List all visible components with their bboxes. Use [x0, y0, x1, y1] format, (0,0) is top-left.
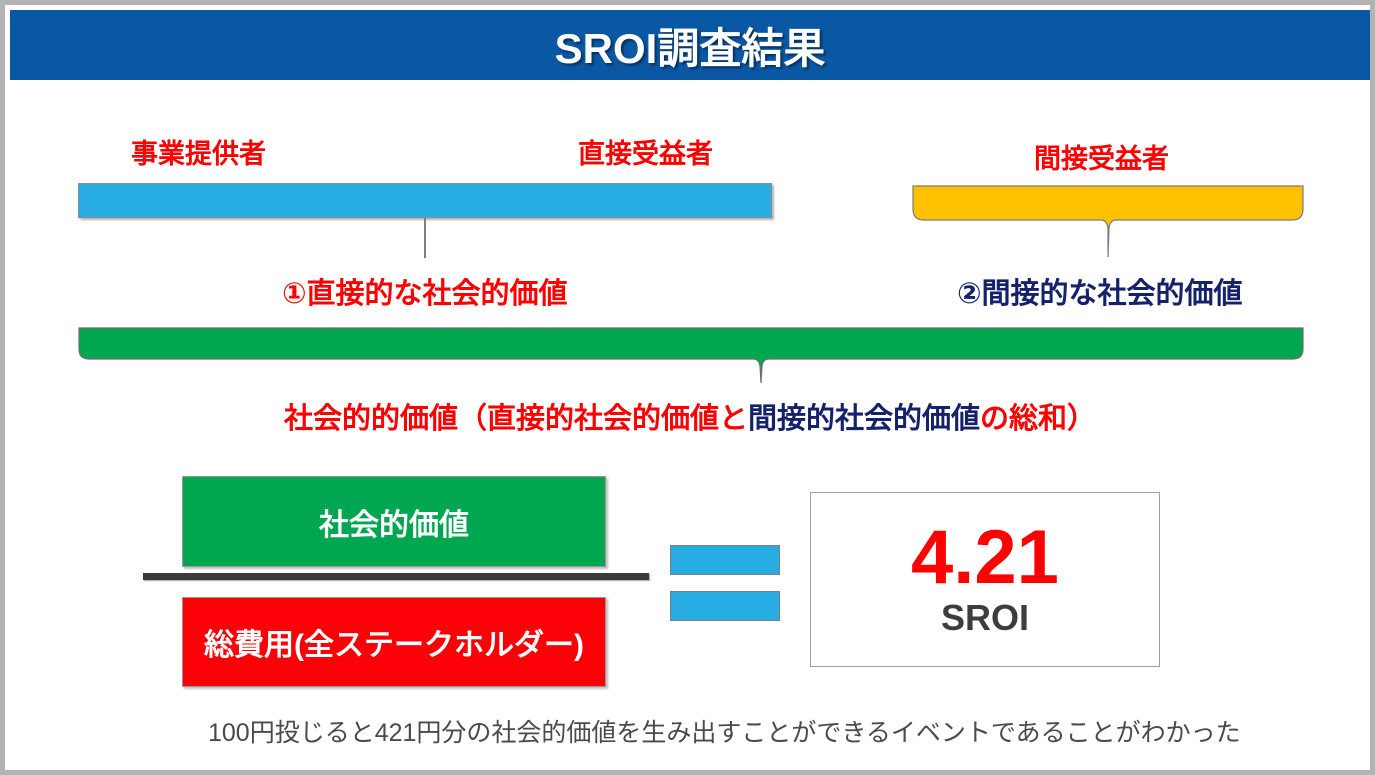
label-provider: 事業提供者 — [131, 132, 266, 171]
denominator-label: 総費用(全ステークホルダー) — [204, 620, 584, 664]
slide-canvas: SROI調査結果 事業提供者 直接受益者 間接受益者 ①直接的な社会的価値 ②間… — [0, 0, 1375, 775]
label-direct-social-value: ①直接的な社会的価値 — [282, 270, 568, 312]
label-indirect-beneficiary: 間接受益者 — [1034, 137, 1169, 176]
label-indirect-social-value: ②間接的な社会的価値 — [957, 270, 1243, 312]
footer-note: 100円投じると421円分の社会的価値を生み出すことができるイベントであることが… — [208, 713, 1241, 749]
brace-indirect-beneficiary — [911, 183, 1305, 259]
total-label-part-3: の総和） — [980, 403, 1096, 435]
brace-total-social-value — [77, 325, 1305, 385]
box-social-value-numerator: 社会的価値 — [182, 476, 606, 567]
total-label-part-1: 社会的的価値（直接的社会的価値と — [284, 403, 748, 435]
sroi-value: 4.21 — [911, 521, 1059, 595]
equals-sign-bottom-bar — [670, 591, 780, 621]
label-total-social-value: 社会的的価値（直接的社会的価値と間接的社会的価値の総和） — [284, 395, 1096, 437]
page-title: SROI調査結果 — [555, 15, 826, 76]
sroi-caption: SROI — [941, 598, 1029, 638]
box-total-cost-denominator: 総費用(全ステークホルダー) — [182, 597, 606, 687]
bar-direct-stakeholders — [78, 183, 772, 218]
label-direct-beneficiary: 直接受益者 — [578, 132, 713, 171]
slide-title-bar: SROI調査結果 — [10, 10, 1370, 80]
fraction-bar — [143, 573, 649, 580]
direct-value-pointer-line — [424, 218, 426, 258]
result-box: 4.21 SROI — [810, 492, 1160, 667]
numerator-label: 社会的価値 — [319, 500, 469, 544]
equals-sign-top-bar — [670, 545, 780, 575]
total-label-part-2: 間接的社会的価値 — [748, 403, 980, 435]
